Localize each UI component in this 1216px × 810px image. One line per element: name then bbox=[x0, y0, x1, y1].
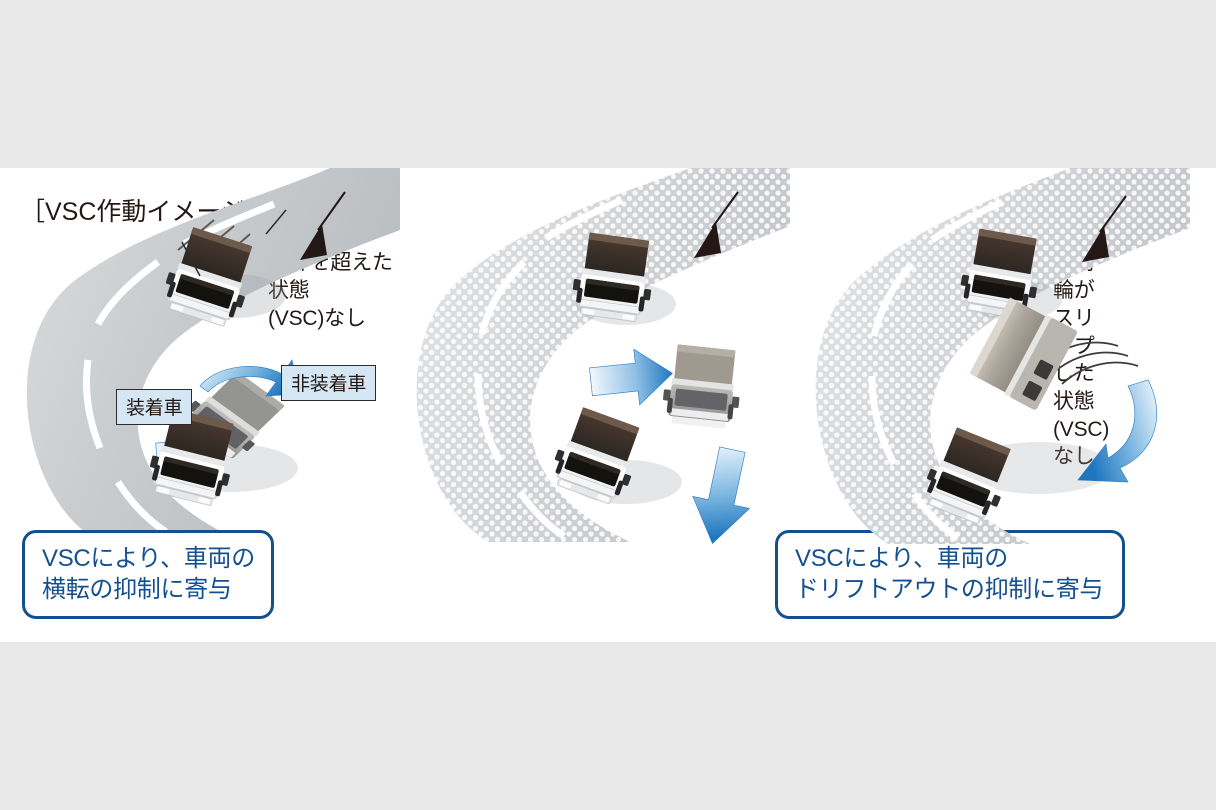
caption-rollover: VSCにより、車両の 横転の抑制に寄与 bbox=[22, 530, 274, 619]
panel-rollover: カーブでの横転 限界を超えた状態 (VSC)なし bbox=[0, 168, 400, 642]
panel-spin: 後輪の横滑りが 発生した状態 (VSC)なし bbox=[790, 168, 1216, 642]
panel-drift-out: 雪道などで前輪が スリップした状態 (VSC)なし bbox=[390, 168, 790, 642]
drift-out-direction-arrow bbox=[684, 444, 761, 548]
panel-rollover-scene bbox=[0, 168, 400, 548]
top-background-band bbox=[0, 0, 1216, 168]
vsc-diagram-figure: ［VSC作動イメージ図］ カーブでの横転 限界を超えた状態 (VSC)なし bbox=[0, 0, 1216, 810]
callout-equipped-vehicle: 装着車 bbox=[116, 389, 192, 425]
force-arrow-drift bbox=[588, 345, 675, 409]
figure-content-area: ［VSC作動イメージ図］ カーブでの横転 限界を超えた状態 (VSC)なし bbox=[0, 168, 1216, 642]
panel-drift-out-scene bbox=[390, 168, 790, 548]
callout-nonequipped-vehicle: 非装着車 bbox=[281, 365, 376, 401]
truck-nonequipped-ghost bbox=[661, 343, 745, 430]
force-arrow-spin bbox=[1078, 380, 1157, 482]
panel-spin-scene bbox=[790, 168, 1216, 548]
bottom-background-band bbox=[0, 642, 1216, 810]
